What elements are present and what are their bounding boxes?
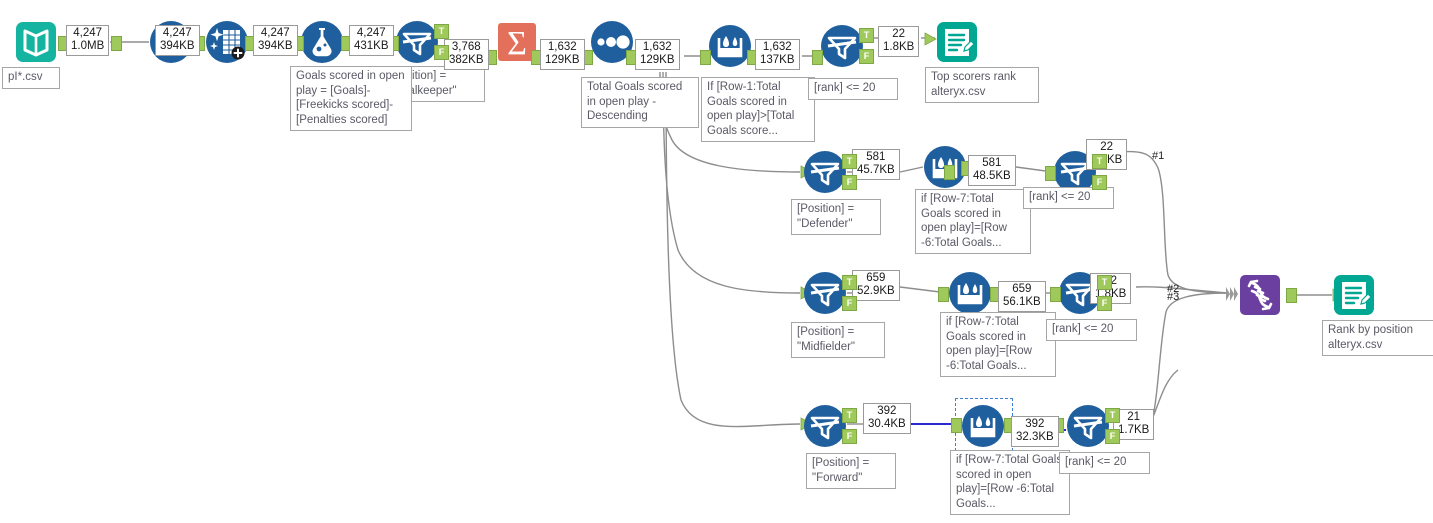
filter-false-output-rank-fwd[interactable]: F: [1105, 429, 1120, 444]
annotation-output-top: Top scorers rank alteryx.csv: [925, 67, 1039, 103]
record-count-auto-field: 4,247394KB: [155, 25, 200, 56]
annotation-filter-forward: [Position] = "Forward": [806, 453, 896, 489]
workflow-canvas[interactable]: Σ: [0, 0, 1433, 523]
connector-nub: [700, 50, 711, 65]
annotation-filter-rank-mid: [rank] <= 20: [1046, 319, 1137, 341]
filter-true-output-rank-fwd[interactable]: T: [1105, 408, 1120, 423]
annotation-formula: Goals scored in open play = [Goals]-[Fre…: [290, 66, 412, 131]
annotation-multirow-top: If [Row-1:Total Goals scored in open pla…: [701, 77, 815, 142]
multi-row-formula-tool-top[interactable]: [708, 24, 752, 68]
annotation-sort: Total Goals scored in open play - Descen…: [581, 77, 699, 128]
multi-row-formula-tool-forward[interactable]: [961, 404, 1005, 448]
filter-false-output-goalkeeper[interactable]: F: [434, 45, 449, 60]
filter-false-output-forward[interactable]: F: [842, 429, 857, 444]
filter-false-output-rank-mid[interactable]: F: [1097, 296, 1112, 311]
union-multi-input-connector: [1226, 287, 1239, 301]
input-data-tool[interactable]: [14, 20, 58, 64]
record-count-filter-gk-false: 3,768382KB: [444, 39, 489, 70]
filter-true-output-rank-mid[interactable]: T: [1097, 275, 1112, 290]
annotation-filter-rank-def: [rank] <= 20: [1023, 187, 1114, 209]
connector-nub: [944, 165, 955, 180]
filter-true-output-midfielder[interactable]: T: [842, 275, 857, 290]
connector-nub: [938, 287, 949, 302]
record-count-multirow-top: 1,632137KB: [755, 39, 800, 70]
filter-false-output-rank-def[interactable]: F: [1092, 175, 1107, 190]
connector-nub: [111, 36, 122, 51]
output-data-tool-rank-by-position[interactable]: [1332, 273, 1376, 317]
data-cleansing-tool[interactable]: [205, 20, 249, 64]
branch-label-3: #3: [1167, 291, 1179, 303]
filter-false-output-midfielder[interactable]: F: [842, 296, 857, 311]
filter-false-output-rank-top[interactable]: F: [859, 49, 874, 64]
filter-true-output-rank-top[interactable]: T: [859, 28, 874, 43]
annotation-filter-rank-top: [rank] <= 20: [808, 78, 898, 100]
filter-false-output-defender[interactable]: F: [842, 175, 857, 190]
annotation-filter-midfielder: [Position] = "Midfielder": [791, 322, 885, 358]
filter-tool-rank-forward[interactable]: [1066, 404, 1110, 448]
annotation-input-file: pI*.csv: [2, 67, 60, 89]
sigma-icon: Σ: [507, 25, 527, 62]
annotation-filter-defender: [Position] = "Defender": [791, 199, 881, 235]
connector-nub: [951, 418, 962, 433]
filter-true-output-goalkeeper[interactable]: T: [434, 24, 449, 39]
record-count-formula: 4,247431KB: [349, 25, 394, 56]
branch-label-1: #1: [1152, 150, 1164, 162]
record-count-multirow-forward: 39232.3KB: [1011, 416, 1059, 447]
filter-true-output-rank-def[interactable]: T: [1092, 154, 1107, 169]
filter-tool-midfielder[interactable]: [803, 271, 847, 315]
formula-tool[interactable]: [300, 20, 344, 64]
connector-nub: [1045, 166, 1056, 181]
record-count-filter-forward: 39230.4KB: [863, 403, 911, 434]
record-count-sort: 1,632129KB: [635, 39, 680, 70]
annotation-filter-rank-fwd: [rank] <= 20: [1059, 452, 1150, 474]
record-count-multirow-defender: 58148.5KB: [968, 155, 1016, 186]
record-count-filter-defender: 58145.7KB: [852, 149, 900, 180]
filter-tool-goalkeeper[interactable]: [395, 20, 439, 64]
record-count-input: 4,2471.0MB: [66, 25, 109, 56]
filter-true-output-defender[interactable]: T: [842, 154, 857, 169]
output-data-tool-top-scorers[interactable]: [935, 20, 979, 64]
filter-tool-defender[interactable]: [803, 150, 847, 194]
annotation-multirow-mid: if [Row-7:Total Goals scored in open pla…: [940, 312, 1056, 377]
annotation-output-rank: Rank by position alteryx.csv: [1322, 320, 1433, 356]
record-count-filter-rank-top: 221.8KB: [878, 26, 919, 57]
filter-tool-forward[interactable]: [803, 404, 847, 448]
annotation-multirow-defender: if [Row-7:Total Goals scored in open pla…: [915, 189, 1031, 254]
connector-nub: [812, 50, 823, 65]
record-count-summarize: 1,632129KB: [540, 39, 585, 70]
union-tool[interactable]: [1238, 273, 1282, 317]
multi-row-formula-tool-midfielder[interactable]: [948, 271, 992, 315]
filter-tool-rank-top[interactable]: [820, 24, 864, 68]
filter-true-output-forward[interactable]: T: [842, 408, 857, 423]
record-count-multirow-midfielder: 65956.1KB: [998, 281, 1046, 312]
connector-nub: [1050, 287, 1061, 302]
record-count-data-cleansing: 4,247394KB: [253, 25, 298, 56]
record-count-filter-midfielder: 65952.9KB: [852, 270, 900, 301]
annotation-multirow-forward: if [Row-7:Total Goals scored in open pla…: [950, 450, 1070, 515]
connector-nub: [1286, 288, 1297, 303]
